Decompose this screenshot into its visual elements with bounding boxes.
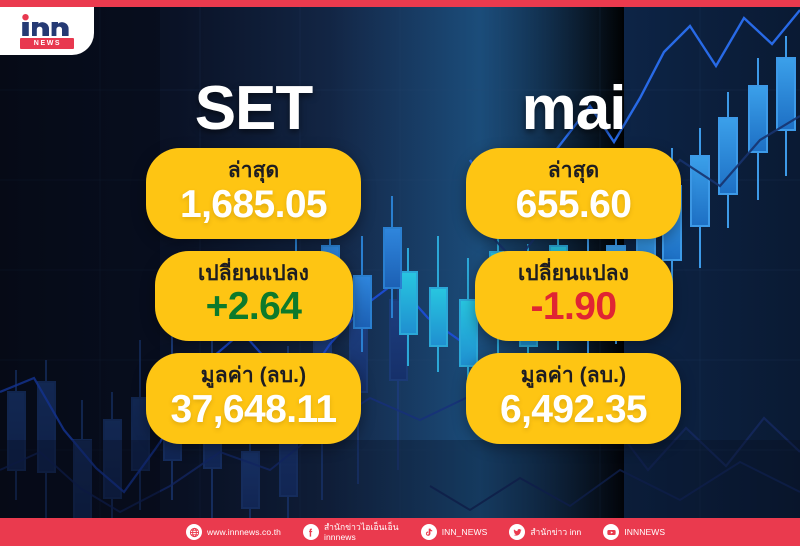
- footer-label: INNNEWS: [624, 527, 665, 537]
- footer-label: สำนักข่าว inn: [530, 527, 581, 537]
- footer-item-twitter[interactable]: สำนักข่าว inn: [509, 524, 581, 540]
- index-title-mai: mai: [466, 78, 681, 148]
- inn-news-logo[interactable]: NEWS: [0, 7, 94, 55]
- youtube-icon: [603, 524, 619, 540]
- index-column-mai: mai ล่าสุด 655.60 เปลี่ยนแปลง -1.90 มูลค…: [466, 78, 681, 456]
- footer-label: INN_NEWS: [442, 527, 488, 537]
- card-label: มูลค่า (ลบ.): [472, 364, 675, 388]
- card-value: 655.60: [472, 184, 675, 226]
- market-summary-graphic: NEWS SET ล่าสุด 1,685.05 เปลี่ยนแปลง +2.…: [0, 0, 800, 546]
- facebook-icon: [303, 524, 319, 540]
- card-label: ล่าสุด: [472, 159, 675, 183]
- top-accent-bar: [0, 0, 800, 7]
- card-label: มูลค่า (ลบ.): [152, 364, 355, 388]
- card-label: เปลี่ยนแปลง: [481, 262, 667, 286]
- card-label: ล่าสุด: [152, 159, 355, 183]
- card-value: 6,492.35: [472, 389, 675, 431]
- globe-icon: [186, 524, 202, 540]
- card-label: เปลี่ยนแปลง: [161, 262, 347, 286]
- footer-label: สำนักข่าวไอเอ็นเอ็น innnews: [324, 522, 399, 542]
- inn-wordmark-icon: [20, 14, 74, 36]
- card-set-last: ล่าสุด 1,685.05: [146, 148, 361, 239]
- footer-item-website[interactable]: www.innnews.co.th: [186, 524, 281, 540]
- card-value: -1.90: [481, 286, 667, 328]
- footer-label-line1: สำนักข่าวไอเอ็นเอ็น: [324, 522, 399, 532]
- card-value: 37,648.11: [152, 389, 355, 431]
- footer-label: www.innnews.co.th: [207, 527, 281, 537]
- card-mai-change: เปลี่ยนแปลง -1.90: [475, 251, 673, 342]
- card-mai-turnover: มูลค่า (ลบ.) 6,492.35: [466, 353, 681, 444]
- card-set-change: เปลี่ยนแปลง +2.64: [155, 251, 353, 342]
- footer-item-facebook[interactable]: สำนักข่าวไอเอ็นเอ็น innnews: [303, 522, 399, 542]
- index-column-set: SET ล่าสุด 1,685.05 เปลี่ยนแปลง +2.64 มู…: [146, 78, 361, 456]
- logo-news-badge: NEWS: [20, 38, 74, 49]
- index-title-set: SET: [146, 78, 361, 148]
- card-mai-last: ล่าสุด 655.60: [466, 148, 681, 239]
- footer-item-tiktok[interactable]: INN_NEWS: [421, 524, 488, 540]
- footer-label-line2: innnews: [324, 532, 399, 542]
- card-set-turnover: มูลค่า (ลบ.) 37,648.11: [146, 353, 361, 444]
- footer-item-youtube[interactable]: INNNEWS: [603, 524, 665, 540]
- social-footer-bar: www.innnews.co.th สำนักข่าวไอเอ็นเอ็น in…: [0, 518, 800, 546]
- card-value: 1,685.05: [152, 184, 355, 226]
- card-value: +2.64: [161, 286, 347, 328]
- tiktok-icon: [421, 524, 437, 540]
- twitter-icon: [509, 524, 525, 540]
